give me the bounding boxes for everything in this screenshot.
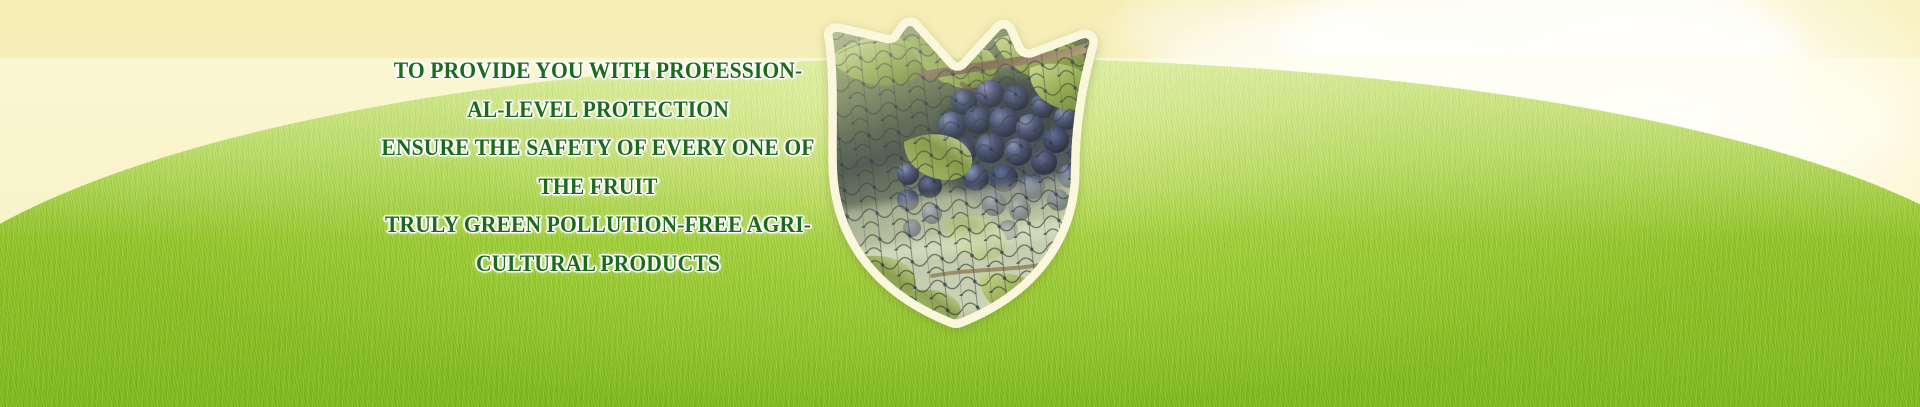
headline-block: TO PROVIDE YOU WITH PROFESSION- AL-LEVEL… bbox=[320, 52, 876, 283]
headline-line-2: AL-LEVEL PROTECTION bbox=[342, 91, 854, 130]
headline-line-3: ENSURE THE SAFETY OF EVERY ONE OF bbox=[342, 129, 854, 168]
photo-highlight bbox=[792, 4, 1132, 354]
promo-banner: TO PROVIDE YOU WITH PROFESSION- AL-LEVEL… bbox=[0, 0, 1920, 407]
headline-line-5: TRULY GREEN POLLUTION-FREE AGRI- bbox=[342, 206, 854, 245]
headline-line-6: CULTURAL PRODUCTS bbox=[342, 245, 854, 284]
headline-line-4: THE FRUIT bbox=[342, 168, 854, 207]
shield-photo-grapes bbox=[788, 4, 1136, 354]
shield-emblem bbox=[812, 24, 1108, 324]
headline-line-1: TO PROVIDE YOU WITH PROFESSION- bbox=[342, 52, 854, 91]
